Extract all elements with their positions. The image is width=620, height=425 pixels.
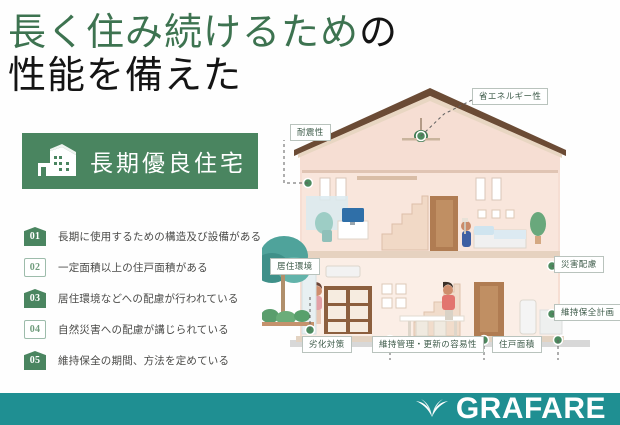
feature-number-badge: 04 <box>24 320 46 339</box>
headline-line-1: 長く住み続けるための <box>8 14 438 53</box>
feature-text: 維持保全の期間、方法を定めている <box>58 353 229 368</box>
feature-number-badge: 03 <box>24 289 46 308</box>
callout-degradation: 劣化対策 <box>302 336 352 353</box>
feature-text: 居住環境などへの配慮が行われている <box>58 291 239 306</box>
leaf-wing-icon <box>415 397 449 421</box>
certification-badge-label: 長期優良住宅 <box>90 144 246 178</box>
house-illustration: 省エネルギー性 耐震性 災害配慮 維持保全計画 居住環境 劣化対策 維持管理・更… <box>262 78 620 378</box>
house-icon <box>36 143 78 179</box>
advertisement-canvas: 長く住み続けるための 性能を備えた 長期優良住宅 01 長期に使用するための構造… <box>0 0 620 425</box>
callout-energy: 省エネルギー性 <box>472 88 548 105</box>
house-cutaway-graphic <box>262 78 620 378</box>
feature-list: 01 長期に使用するための構造及び設備がある 02 一定面積以上の住戸面積がある… <box>24 226 274 381</box>
list-item: 02 一定面積以上の住戸面積がある <box>24 257 274 278</box>
feature-number-badge: 01 <box>24 227 46 246</box>
list-item: 05 維持保全の期間、方法を定めている <box>24 350 274 371</box>
callout-environment: 居住環境 <box>270 258 320 275</box>
feature-number-badge: 05 <box>24 351 46 370</box>
feature-text: 一定面積以上の住戸面積がある <box>58 260 208 275</box>
callout-seismic: 耐震性 <box>290 124 331 141</box>
brand-footer: GRAFARE <box>0 393 620 425</box>
brand-name: GRAFARE <box>456 392 606 425</box>
list-item: 01 長期に使用するための構造及び設備がある <box>24 226 274 247</box>
feature-text: 自然災害への配慮が講じられている <box>58 322 229 337</box>
headline-line-1-dark: の <box>359 12 398 54</box>
headline-line-1-green: 長く住み続けるため <box>8 12 359 54</box>
certification-badge: 長期優良住宅 <box>22 133 258 189</box>
callout-maintenance: 維持保全計画 <box>554 304 620 321</box>
feature-text: 長期に使用するための構造及び設備がある <box>58 229 261 244</box>
list-item: 04 自然災害への配慮が講じられている <box>24 319 274 340</box>
callout-upkeep: 維持管理・更新の容易性 <box>372 336 484 353</box>
callout-floor-area: 住戸面積 <box>492 336 542 353</box>
feature-number-badge: 02 <box>24 258 46 277</box>
callout-disaster: 災害配慮 <box>554 256 604 273</box>
list-item: 03 居住環境などへの配慮が行われている <box>24 288 274 309</box>
